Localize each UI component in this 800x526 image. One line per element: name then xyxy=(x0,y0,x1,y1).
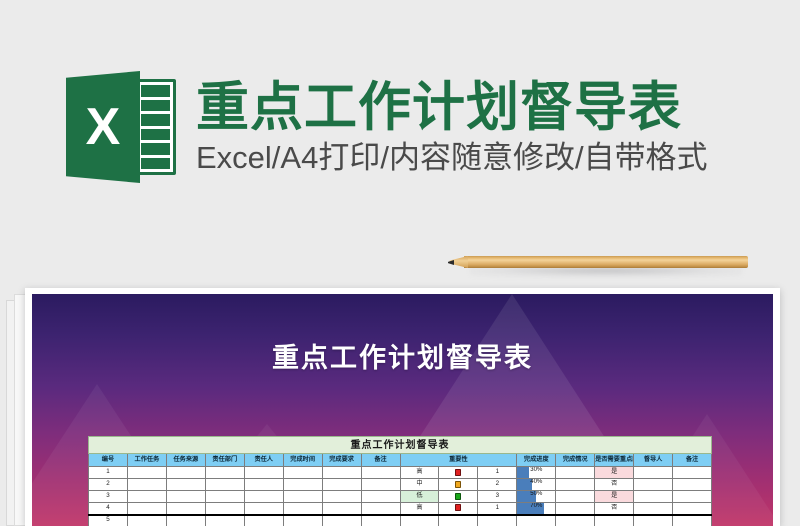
progress-bar-label: 70% xyxy=(530,503,542,509)
cell-dept[interactable] xyxy=(205,491,244,503)
cell-requirement[interactable] xyxy=(322,491,361,503)
cell-index[interactable]: 4 xyxy=(89,503,128,515)
cell-importance-rank[interactable] xyxy=(478,515,517,526)
cell-supervisor[interactable] xyxy=(634,467,673,479)
progress-bar: 30% xyxy=(517,467,555,478)
table-row[interactable]: 5 xyxy=(89,515,712,526)
cell-requirement[interactable] xyxy=(322,479,361,491)
traffic-light-icon xyxy=(439,515,478,526)
cell-importance-label[interactable]: 高 xyxy=(400,503,439,515)
cell-requirement[interactable] xyxy=(322,503,361,515)
cell-status[interactable] xyxy=(556,491,595,503)
traffic-light-icon xyxy=(439,479,478,491)
cell-owner[interactable] xyxy=(244,467,283,479)
cell-status[interactable] xyxy=(556,479,595,491)
progress-bar: 70% xyxy=(517,503,555,514)
cell-owner[interactable] xyxy=(244,491,283,503)
traffic-light-red xyxy=(455,504,461,511)
traffic-light-icon xyxy=(439,491,478,503)
cell-owner[interactable] xyxy=(244,503,283,515)
cell-importance-rank[interactable]: 1 xyxy=(478,503,517,515)
progress-bar: 40% xyxy=(517,479,555,490)
cell-status[interactable] xyxy=(556,503,595,515)
col-header-note2[interactable]: 备注 xyxy=(673,454,712,467)
brand-text-block: 重点工作计划督导表 Excel/A4打印/内容随意修改/自带格式 xyxy=(196,79,708,176)
spreadsheet-title-row: 重点工作计划督导表 xyxy=(89,437,712,454)
traffic-light-yellow xyxy=(455,481,461,488)
cell-task[interactable] xyxy=(127,491,166,503)
traffic-light-red xyxy=(455,469,461,476)
col-header-source[interactable]: 任务来源 xyxy=(166,454,205,467)
cell-due[interactable] xyxy=(283,503,322,515)
cell-importance-rank[interactable]: 2 xyxy=(478,479,517,491)
cell-supervisor[interactable] xyxy=(634,491,673,503)
cell-due[interactable] xyxy=(283,467,322,479)
cell-task[interactable] xyxy=(127,515,166,526)
cell-supervisor[interactable] xyxy=(634,479,673,491)
col-header-owner[interactable]: 责任人 xyxy=(244,454,283,467)
cell-progress[interactable]: 40% xyxy=(517,479,556,491)
spreadsheet-body[interactable]: 1高130%是2中240%否3低350%是4高170%否5 xyxy=(89,467,712,526)
table-row[interactable]: 4高170%否 xyxy=(89,503,712,515)
page-subtitle: Excel/A4打印/内容随意修改/自带格式 xyxy=(196,140,708,176)
progress-bar-fill xyxy=(517,467,528,478)
cell-progress[interactable] xyxy=(517,515,556,526)
cell-source[interactable] xyxy=(166,467,205,479)
col-header-dept[interactable]: 责任部门 xyxy=(205,454,244,467)
cell-importance-label[interactable]: 低 xyxy=(400,491,439,503)
screenshot-root: X 重点工作计划督导表 Excel/A4打印/内容随意修改/自带格式 重点工作计… xyxy=(0,0,800,526)
cell-note1[interactable] xyxy=(361,491,400,503)
cell-followup[interactable]: 否 xyxy=(595,503,634,515)
cell-dept[interactable] xyxy=(205,479,244,491)
document-title: 重点工作计划督导表 xyxy=(32,336,773,375)
cell-dept[interactable] xyxy=(205,503,244,515)
cell-followup[interactable]: 是 xyxy=(595,467,634,479)
cell-note2[interactable] xyxy=(673,491,712,503)
cell-due[interactable] xyxy=(283,515,322,526)
col-header-status[interactable]: 完成情况 xyxy=(556,454,595,467)
cell-progress[interactable]: 70% xyxy=(517,503,556,515)
cell-due[interactable] xyxy=(283,491,322,503)
cell-supervisor[interactable] xyxy=(634,515,673,526)
document-preview[interactable]: 重点工作计划督导表 重点工作计划督导表 编号 工作任务 任务来源 责任部门 责任… xyxy=(25,288,780,526)
cell-note2[interactable] xyxy=(673,503,712,515)
spreadsheet-header-row: 编号 工作任务 任务来源 责任部门 责任人 完成时间 完成要求 备注 重要性 完… xyxy=(89,454,712,467)
page-title: 重点工作计划督导表 xyxy=(196,79,708,136)
cell-source[interactable] xyxy=(166,503,205,515)
cell-followup[interactable]: 否 xyxy=(595,479,634,491)
cell-progress[interactable]: 30% xyxy=(517,467,556,479)
cell-progress[interactable]: 50% xyxy=(517,491,556,503)
spreadsheet-table[interactable]: 重点工作计划督导表 编号 工作任务 任务来源 责任部门 责任人 完成时间 完成要… xyxy=(88,436,712,526)
traffic-light-green xyxy=(455,493,461,500)
col-header-note1[interactable]: 备注 xyxy=(361,454,400,467)
cell-note1[interactable] xyxy=(361,467,400,479)
cell-index[interactable]: 2 xyxy=(89,479,128,491)
cell-index[interactable]: 1 xyxy=(89,467,128,479)
cell-note2[interactable] xyxy=(673,467,712,479)
cell-note2[interactable] xyxy=(673,479,712,491)
col-header-index[interactable]: 编号 xyxy=(89,454,128,467)
col-header-requirement[interactable]: 完成要求 xyxy=(322,454,361,467)
cell-source[interactable] xyxy=(166,491,205,503)
cell-requirement[interactable] xyxy=(322,467,361,479)
cell-dept[interactable] xyxy=(205,467,244,479)
cell-owner[interactable] xyxy=(244,479,283,491)
traffic-light-icon xyxy=(439,467,478,479)
document-banner: 重点工作计划督导表 重点工作计划督导表 编号 工作任务 任务来源 责任部门 责任… xyxy=(32,294,773,526)
col-header-importance[interactable]: 重要性 xyxy=(400,454,517,467)
cell-status[interactable] xyxy=(556,515,595,526)
col-header-followup[interactable]: 是否需要重点跟进 xyxy=(595,454,634,467)
cell-due[interactable] xyxy=(283,479,322,491)
cell-importance-label[interactable]: 高 xyxy=(400,467,439,479)
cell-requirement[interactable] xyxy=(322,515,361,526)
cell-supervisor[interactable] xyxy=(634,503,673,515)
cell-followup[interactable] xyxy=(595,515,634,526)
pencil-shadow xyxy=(470,268,742,277)
progress-bar-label: 50% xyxy=(530,491,542,497)
progress-bar-label: 30% xyxy=(530,467,542,473)
table-row[interactable]: 2中240%否 xyxy=(89,479,712,491)
spreadsheet-head: 重点工作计划督导表 编号 工作任务 任务来源 责任部门 责任人 完成时间 完成要… xyxy=(89,437,712,467)
cell-importance-label[interactable]: 中 xyxy=(400,479,439,491)
cell-note1[interactable] xyxy=(361,503,400,515)
cell-source[interactable] xyxy=(166,479,205,491)
progress-bar: 50% xyxy=(517,491,555,502)
progress-bar-label: 40% xyxy=(530,479,542,485)
col-header-task[interactable]: 工作任务 xyxy=(127,454,166,467)
col-header-supervisor[interactable]: 督导人 xyxy=(634,454,673,467)
pencil-icon xyxy=(448,255,748,271)
table-row[interactable]: 1高130%是 xyxy=(89,467,712,479)
cell-index[interactable]: 3 xyxy=(89,491,128,503)
col-header-due[interactable]: 完成时间 xyxy=(283,454,322,467)
table-row[interactable]: 3低350%是 xyxy=(89,491,712,503)
pencil-body xyxy=(464,256,748,268)
cell-followup[interactable]: 是 xyxy=(595,491,634,503)
cell-task[interactable] xyxy=(127,503,166,515)
spreadsheet-title: 重点工作计划督导表 xyxy=(89,437,712,454)
col-header-progress[interactable]: 完成进度 xyxy=(517,454,556,467)
cell-note1[interactable] xyxy=(361,479,400,491)
cell-task[interactable] xyxy=(127,467,166,479)
cell-index[interactable]: 5 xyxy=(89,515,128,526)
cell-note1[interactable] xyxy=(361,515,400,526)
traffic-light-icon xyxy=(439,503,478,515)
cell-task[interactable] xyxy=(127,479,166,491)
cell-source[interactable] xyxy=(166,515,205,526)
cell-importance-rank[interactable]: 1 xyxy=(478,467,517,479)
cell-status[interactable] xyxy=(556,467,595,479)
excel-icon-letter: X xyxy=(66,71,140,183)
brand-header: X 重点工作计划督导表 Excel/A4打印/内容随意修改/自带格式 xyxy=(0,52,800,202)
cell-owner[interactable] xyxy=(244,515,283,526)
excel-icon: X xyxy=(66,71,178,183)
cell-dept[interactable] xyxy=(205,515,244,526)
cell-note2[interactable] xyxy=(673,515,712,526)
cell-importance-label[interactable] xyxy=(400,515,439,526)
cell-importance-rank[interactable]: 3 xyxy=(478,491,517,503)
